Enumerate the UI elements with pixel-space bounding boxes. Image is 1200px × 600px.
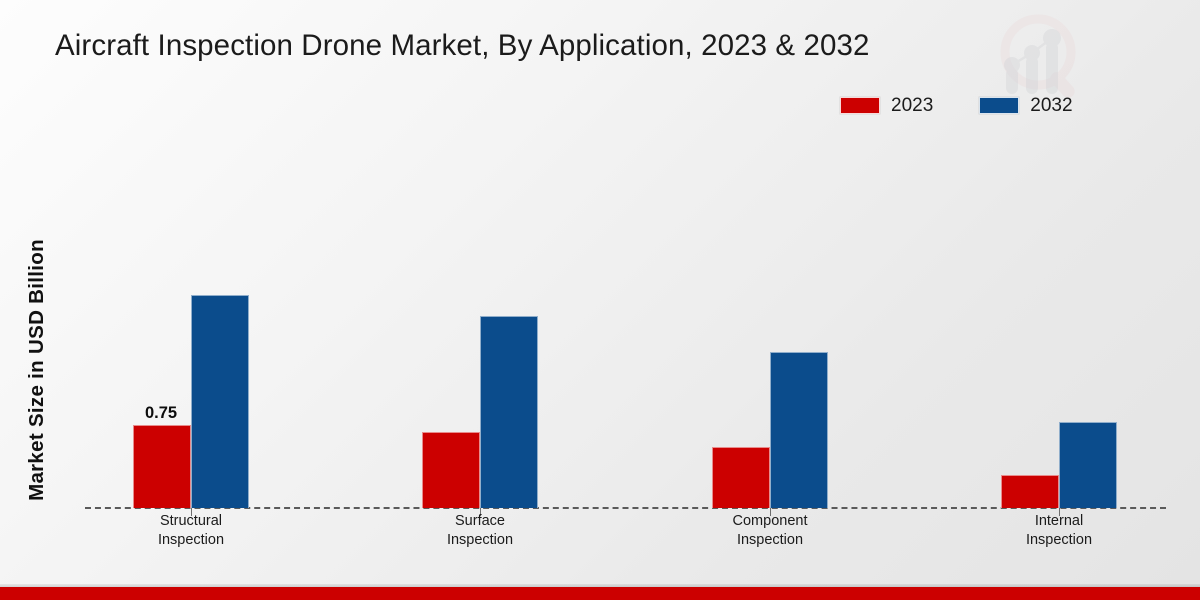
bar-2023-structural-inspection[interactable]	[133, 425, 191, 508]
bar-2032-surface-inspection[interactable]	[480, 316, 538, 508]
bar-2023-surface-inspection[interactable]	[422, 432, 480, 508]
bottom-accent-band	[0, 587, 1200, 600]
x-axis-label-surface-inspection: Surface Inspection	[380, 512, 580, 550]
x-axis-label-line-1: Component	[670, 512, 870, 531]
bar-2023-internal-inspection[interactable]	[1001, 475, 1059, 508]
x-axis-label-line-1: Internal	[959, 512, 1159, 531]
chart-container: Aircraft Inspection Drone Market, By App…	[0, 0, 1200, 600]
bar-2032-internal-inspection[interactable]	[1059, 422, 1117, 508]
bar-2032-structural-inspection[interactable]	[191, 295, 249, 508]
x-axis-label-structural-inspection: Structural Inspection	[91, 512, 291, 550]
x-axis-label-line-1: Surface	[380, 512, 580, 531]
bar-value-label-2023-structural-inspection: 0.75	[145, 404, 177, 423]
x-axis-label-line-2: Inspection	[380, 531, 580, 550]
x-axis-label-internal-inspection: Internal Inspection	[959, 512, 1159, 550]
x-axis-label-line-2: Inspection	[959, 531, 1159, 550]
plot-area: 0.75 Structural Inspection Surface Inspe…	[0, 0, 1200, 600]
x-axis-label-line-2: Inspection	[91, 531, 291, 550]
bar-2023-component-inspection[interactable]	[712, 447, 770, 508]
x-axis-label-component-inspection: Component Inspection	[670, 512, 870, 550]
bar-2032-component-inspection[interactable]	[770, 352, 828, 508]
x-axis-label-line-2: Inspection	[670, 531, 870, 550]
x-axis-label-line-1: Structural	[91, 512, 291, 531]
